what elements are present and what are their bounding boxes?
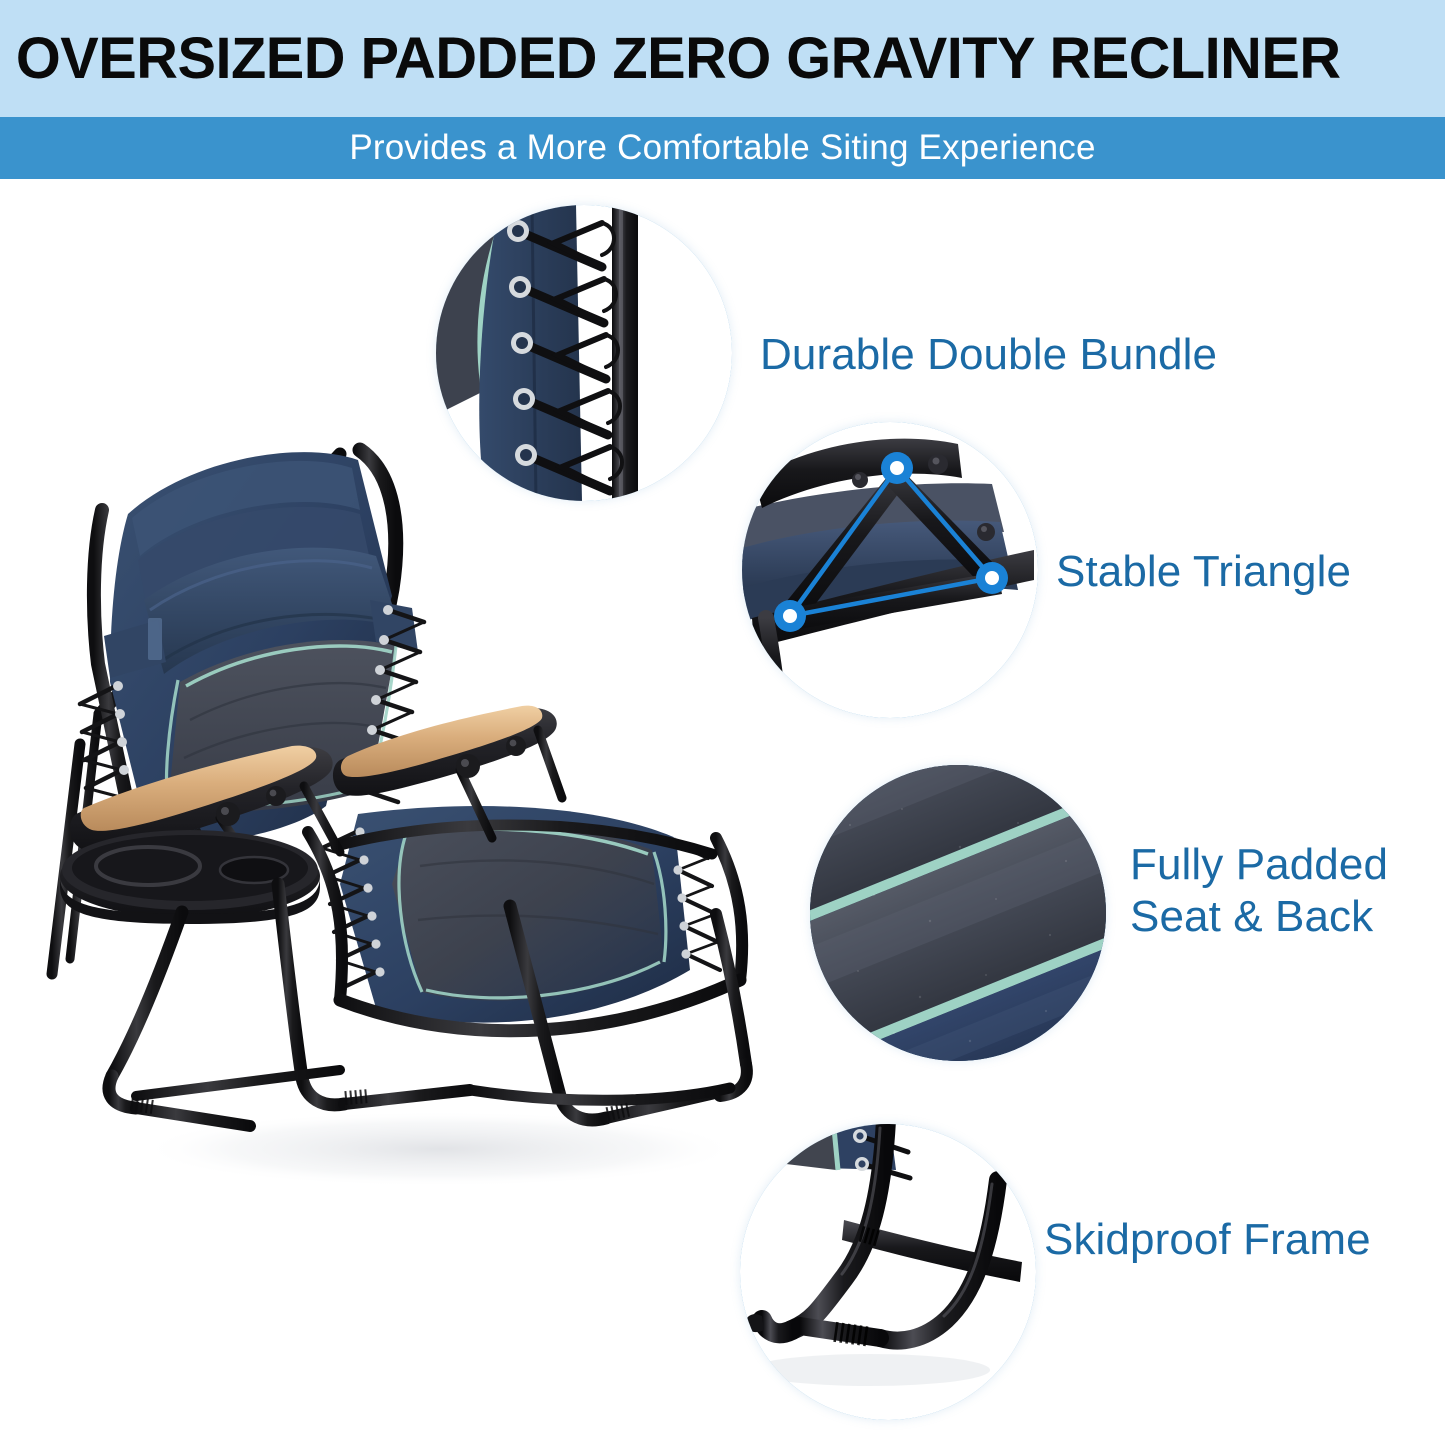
page-subtitle: Provides a More Comfortable Siting Exper… bbox=[349, 129, 1095, 167]
content-stage: Durable Double Bundle bbox=[0, 179, 1445, 1445]
callout-label-stable-triangle: Stable Triangle bbox=[1056, 546, 1351, 598]
callout-label-line-1: Fully Padded bbox=[1130, 839, 1430, 891]
page-title: OVERSIZED PADDED ZERO GRAVITY RECLINER bbox=[0, 29, 1350, 89]
callout-label-fully-padded: Fully Padded Seat & Back bbox=[1130, 839, 1430, 943]
subheader-band: Provides a More Comfortable Siting Exper… bbox=[0, 117, 1445, 179]
callout-image-skidproof-frame bbox=[740, 1124, 1036, 1420]
callout-image-fully-padded bbox=[810, 765, 1106, 1061]
callout-label-durable-double-bundle: Durable Double Bundle bbox=[760, 329, 1217, 381]
callout-image-stable-triangle bbox=[742, 422, 1038, 718]
end-cap bbox=[745, 1314, 764, 1332]
infographic-page: OVERSIZED PADDED ZERO GRAVITY RECLINER P… bbox=[0, 0, 1445, 1445]
product-image bbox=[40, 414, 800, 1214]
header-band: OVERSIZED PADDED ZERO GRAVITY RECLINER bbox=[0, 0, 1445, 117]
callout-label-line-2: Seat & Back bbox=[1130, 891, 1430, 943]
brand-tag bbox=[148, 618, 162, 660]
callout-image-durable-double-bundle bbox=[436, 205, 732, 501]
callout-label-skidproof-frame: Skidproof Frame bbox=[1044, 1214, 1371, 1266]
